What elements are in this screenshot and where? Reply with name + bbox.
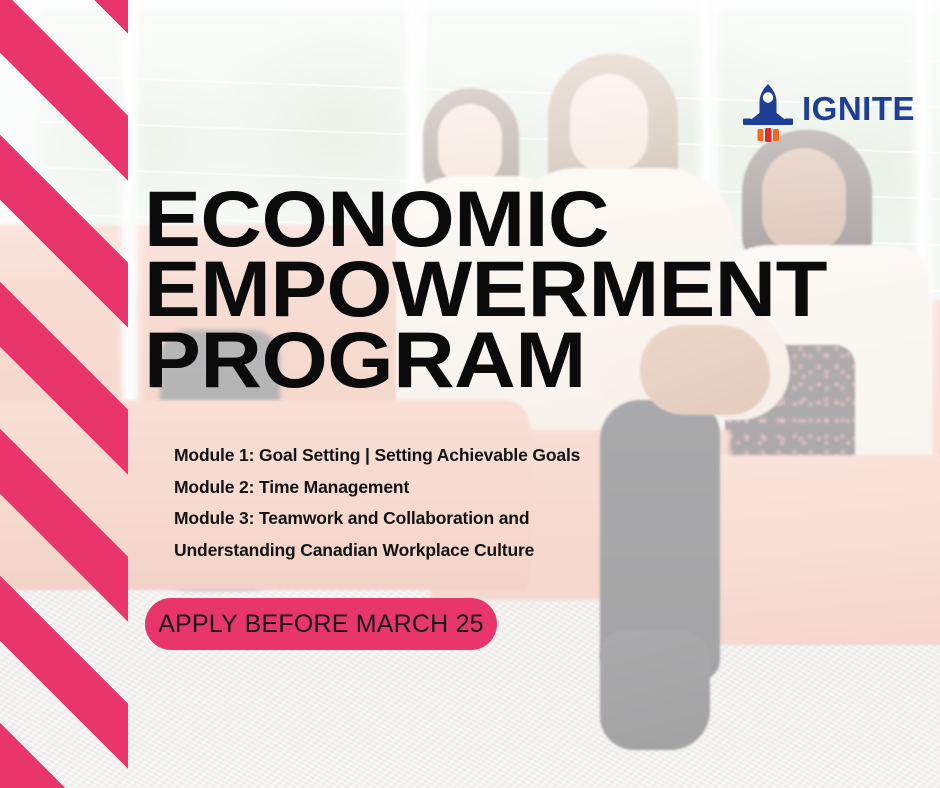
poster-canvas: IGNITE ECONOMIC EMPOWERMENT PROGRAM Modu… [0, 0, 940, 788]
module-list-item: Module 3: Teamwork and Collaboration and [174, 510, 794, 528]
page-title: ECONOMIC EMPOWERMENT PROGRAM [144, 186, 924, 393]
ignite-logo: IGNITE [740, 82, 915, 144]
headline-line-3: PROGRAM [144, 327, 940, 393]
module-list-item: Module 2: Time Management [174, 479, 794, 497]
apply-button-label: APPLY BEFORE MARCH 25 [158, 610, 484, 639]
module-list-item: Module 1: Goal Setting | Setting Achieva… [174, 447, 794, 465]
module-list: Module 1: Goal Setting | Setting Achieva… [174, 447, 794, 559]
poster-content: IGNITE ECONOMIC EMPOWERMENT PROGRAM Modu… [0, 0, 940, 788]
headline-line-2: EMPOWERMENT [144, 256, 940, 322]
apply-button[interactable]: APPLY BEFORE MARCH 25 [145, 598, 497, 650]
ignite-wordmark: IGNITE [802, 92, 915, 125]
module-list-item: Understanding Canadian Workplace Culture [174, 542, 794, 560]
rocket-icon [740, 82, 796, 144]
headline-line-1: ECONOMIC [144, 186, 940, 252]
